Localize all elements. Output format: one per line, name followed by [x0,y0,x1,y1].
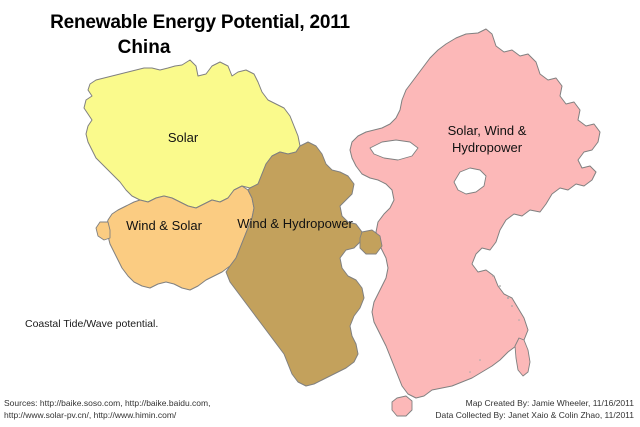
region-label-line-1: Solar, Wind & [418,122,556,139]
map-region-solar-wind-hydropower[interactable] [350,29,600,398]
region-label-wind-solar: Wind & Solar [108,218,220,234]
map-island-hainan [392,396,412,416]
region-label-wind-hydropower: Wind & Hydropower [219,216,371,232]
sources-block: Sources: http://baike.soso.com, http://b… [4,397,210,421]
credits-block: Map Created By: Jamie Wheeler, 11/16/201… [435,397,634,421]
sources-line-1: Sources: http://baike.soso.com, http://b… [4,397,210,409]
coastal-tide-wave-note: Coastal Tide/Wave potential. [25,318,158,330]
china-renewable-energy-map [0,0,640,427]
data-collector-line: Data Collected By: Janet Xaio & Colin Zh… [435,409,634,421]
sources-line-2: http://www.solar-pv.cn/, http://www.himi… [4,409,210,421]
region-label-solar-wind-hydropower: Solar, Wind & Hydropower [418,122,556,156]
region-label-solar: Solar [143,130,223,146]
map-island-taiwan [515,338,530,376]
map-author-line: Map Created By: Jamie Wheeler, 11/16/201… [435,397,634,409]
region-label-line-2: Hydropower [418,139,556,156]
